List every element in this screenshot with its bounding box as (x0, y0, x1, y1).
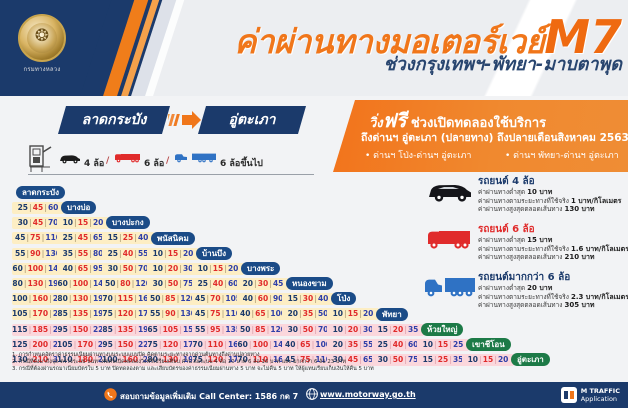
free-banner-bullet-1: • ด่านฯ โป่ง-ด่านฯ อู่ตะเภา (365, 148, 471, 162)
toll-cell: 15|20|35 (372, 324, 424, 336)
vehicle-legend: 4 ล้อ / 6 ล้อ / 6 ล้อขึ้นไป (14, 150, 314, 176)
legend-truckbig-label: 6 ล้อขึ้นไป (220, 156, 263, 170)
rate-truckbig-max-value: 305 บาท (564, 301, 594, 309)
toll-cell: 15|25|40 (102, 232, 154, 244)
rate-truckbig-min: ค่าผ่านทางต่ำสุด 20 บาท (478, 284, 628, 293)
free-trial-banner: วิ่งฟรี ช่วงเปิดทดลองใช้บริการ ถึงด่านฯ … (333, 100, 628, 172)
vehicle-rate-panel: รถยนต์ 4 ล้อ ค่าผ่านทางต่ำสุด 10 บาท ค่า… (424, 176, 628, 316)
rate-truckbig-perkm: ค่าผ่านทางตามระยะทางที่ใช้จริง 2.3 บาท/ก… (478, 293, 628, 302)
app-name-line2: Application (581, 395, 620, 403)
toll-gate-chip[interactable]: บางพระ (241, 262, 280, 275)
m-traffic-app-icon[interactable] (561, 387, 577, 403)
footnote-1: 1. การกำหนดอัตราค่าธรรมเนียมผ่านทางบนระบ… (12, 352, 482, 359)
toll-gate-chip[interactable]: พัทยา (376, 308, 408, 321)
agency-caption: กรมทางหลวง (6, 64, 78, 74)
footnotes: 1. การกำหนดอัตราค่าธรรมเนียมผ่านทางบนระบ… (12, 352, 482, 373)
rate-truckbig-perkm-label: ค่าผ่านทางตามระยะทางที่ใช้จริง (478, 293, 571, 301)
toll-cell: 10|15|20 (57, 217, 109, 229)
infographic-page: ❂ กรมทางหลวง ค่าผ่านทางมอเตอร์เวย์M7 ช่ว… (0, 0, 628, 408)
toll-gate-chip[interactable]: อู่ตะเภา (511, 353, 550, 366)
rate-car-min-value: 10 บาท (527, 188, 552, 196)
route-destination-label: อู่ตะเภา (202, 111, 302, 129)
globe-icon (306, 388, 318, 400)
rate-car-perkm: ค่าผ่านทางตามระยะทางที่ใช้จริง 1 บาท/กิโ… (478, 197, 628, 206)
rate-block-car: รถยนต์ 4 ล้อ ค่าผ่านทางต่ำสุด 10 บาท ค่า… (478, 176, 628, 214)
toll-gate-chip[interactable]: ห้วยใหญ่ (421, 323, 463, 336)
rate-truckbig-max-label: ค่าผ่านทางสูงสุดตลอดเส้นทาง (478, 301, 564, 309)
rate-truck6-perkm: ค่าผ่านทางตามระยะทางที่ใช้จริง 1.6 บาท/ก… (478, 245, 628, 254)
toll-cell: 10|15|20 (327, 308, 379, 320)
toll-cell: 10|15|20 (147, 248, 199, 260)
route-origin-label: ลาดกระบัง (62, 111, 166, 129)
arrow-right-icon (168, 110, 202, 130)
rate-car-min-label: ค่าผ่านทางต่ำสุด (478, 188, 527, 196)
rate-truckbig-min-label: ค่าผ่านทางต่ำสุด (478, 284, 527, 292)
truck-6-wheel-icon (426, 226, 474, 252)
toll-gate-chip[interactable]: หนองขาม (286, 277, 333, 290)
toll-cell: 10|15|20 (192, 263, 244, 275)
truck-6-wheel-icon (114, 151, 142, 164)
department-of-highways-seal: ❂ (18, 14, 66, 62)
truck-more-than-6-wheel-icon (424, 274, 476, 300)
rate-block-truck6: รถยนต์ 6 ล้อ ค่าผ่านทางต่ำสุด 15 บาท ค่า… (478, 224, 628, 262)
legend-divider (28, 174, 314, 175)
rate-car-min: ค่าผ่านทางต่ำสุด 10 บาท (478, 188, 628, 197)
seal-emblem-icon: ❂ (20, 28, 64, 45)
rate-title-truckbig: รถยนต์มากกว่า 6 ล้อ (478, 272, 628, 284)
website-link[interactable]: www.motorway.go.th (320, 390, 416, 399)
route-bar: ลาดกระบัง อู่ตะเภา (62, 106, 302, 134)
free-banner-bullet-2: • ด่านฯ พัทยา-ด่านฯ อู่ตะเภา (505, 148, 619, 162)
truck-more-than-6-wheel-icon (174, 151, 218, 164)
free-banner-period: ถึงด่านฯ อู่ตะเภา (ปลายทาง) ถึงปลายเดือน… (361, 129, 628, 146)
rate-car-max-label: ค่าผ่านทางสูงสุดตลอดเส้นทาง (478, 205, 564, 213)
header: ❂ กรมทางหลวง ค่าผ่านทางมอเตอร์เวย์M7 ช่ว… (0, 0, 628, 96)
car-icon (58, 152, 82, 164)
app-name-line1: M TRAFFIC (581, 387, 620, 395)
toll-gate-chip[interactable]: บางบ่อ (61, 201, 96, 214)
page-subtitle: ช่วงกรุงเทพฯ-พัทยา-มาบตาพุด (152, 56, 622, 74)
rate-block-truckbig: รถยนต์มากกว่า 6 ล้อ ค่าผ่านทางต่ำสุด 20 … (478, 272, 628, 310)
rate-truck6-min-value: 15 บาท (527, 236, 552, 244)
toll-gate-chip[interactable]: เขาชีโอน (466, 338, 511, 351)
rate-truck6-max-value: 210 บาท (564, 253, 594, 261)
toll-gate-chip[interactable]: โป่ง (331, 292, 356, 305)
phone-icon (104, 388, 117, 401)
rate-car-max: ค่าผ่านทางสูงสุดตลอดเส้นทาง 130 บาท (478, 205, 628, 214)
toll-gate-chip[interactable]: บางปะกง (106, 216, 150, 229)
toll-booth-icon (28, 144, 52, 174)
m-traffic-app-block[interactable]: M TRAFFIC Application (561, 385, 620, 405)
rate-truck6-perkm-label: ค่าผ่านทางตามระยะทางที่ใช้จริง (478, 245, 571, 253)
toll-cell: 25|45|60 (12, 202, 64, 214)
rate-car-perkm-label: ค่าผ่านทางตามระยะทางที่ใช้จริง (478, 197, 571, 205)
footnote-3: 3. กรณีที่ต้องผ่านรถมาเนียมบัตรใบ 5 บาท … (12, 366, 482, 373)
rate-truck6-max: ค่าผ่านทางสูงสุดตลอดเส้นทาง 210 บาท (478, 253, 628, 262)
rate-car-max-value: 130 บาท (564, 205, 594, 213)
rate-truck6-min: ค่าผ่านทางต่ำสุด 15 บาท (478, 236, 628, 245)
legend-truck6-label: 6 ล้อ (144, 156, 164, 170)
toll-gate-chip[interactable]: บ้านบึง (196, 247, 232, 260)
rate-title-truck6: รถยนต์ 6 ล้อ (478, 224, 628, 236)
toll-cell: 20|30|45 (237, 278, 289, 290)
toll-cell: 10|15|25 (417, 339, 469, 351)
legend-separator-1: / (106, 156, 109, 166)
rate-title-car: รถยนต์ 4 ล้อ (478, 176, 628, 188)
car-icon (426, 178, 474, 204)
rate-truckbig-perkm-value: 2.3 บาท/กิโลเมตร (571, 293, 628, 301)
rate-truckbig-max: ค่าผ่านทางสูงสุดตลอดเส้นทาง 305 บาท (478, 301, 628, 310)
toll-cell: 15|30|40 (282, 293, 334, 305)
footnote-2: 2. กรณีที่ยังมาถึงจุด ตรวจระบบ บนทางพิเศ… (12, 359, 482, 366)
legend-car-label: 4 ล้อ (84, 156, 104, 170)
toll-gate-chip[interactable]: พนัสนิคม (151, 232, 195, 245)
rate-truckbig-min-value: 20 บาท (527, 284, 552, 292)
rate-truck6-min-label: ค่าผ่านทางต่ำสุด (478, 236, 527, 244)
footer: สอบถามข้อมูลเพิ่มเติม Call Center: 1586 … (0, 382, 628, 408)
rate-truck6-perkm-value: 1.6 บาท/กิโลเมตร (571, 245, 628, 253)
legend-separator-2: / (166, 156, 169, 166)
rate-car-perkm-value: 1 บาท/กิโลเมตร (571, 197, 621, 205)
call-center-text: สอบถามข้อมูลเพิ่มเติม Call Center: 1586 … (120, 390, 298, 403)
toll-gate-chip[interactable]: ลาดกระบัง (16, 186, 65, 199)
rate-truck6-max-label: ค่าผ่านทางสูงสุดตลอดเส้นทาง (478, 253, 564, 261)
